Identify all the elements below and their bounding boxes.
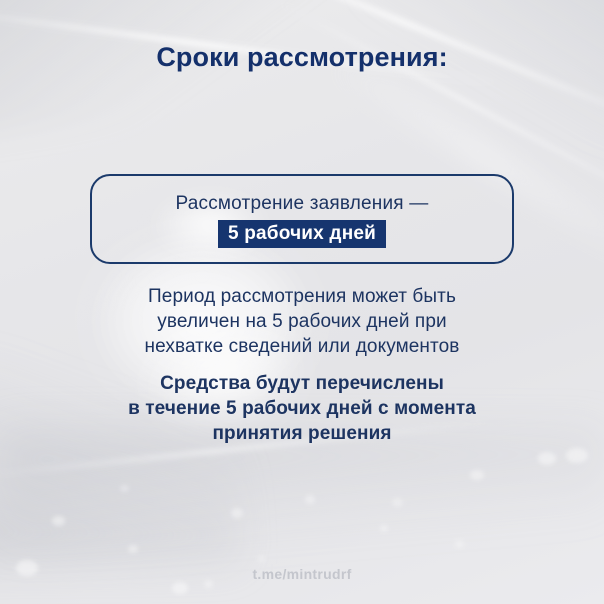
page-title: Сроки рассмотрения: [0,42,604,73]
paragraph-bold: Средства будут перечислены в течение 5 р… [0,371,604,446]
callout-label: Рассмотрение заявления — [176,191,429,217]
poster-canvas: Сроки рассмотрения: Рассмотрение заявлен… [0,0,604,604]
paragraph-regular-line: нехватке сведений или документов [0,334,604,359]
paragraph-regular-line: Период рассмотрения может быть [0,284,604,309]
footer-watermark: t.me/mintrudrf [0,566,604,582]
paragraph-regular-line: увеличен на 5 рабочих дней при [0,309,604,334]
callout-box: Рассмотрение заявления — 5 рабочих дней [90,174,514,264]
paragraph-bold-line: принятия решения [0,421,604,446]
callout-highlight-badge: 5 рабочих дней [218,220,386,248]
paragraph-bold-line: Средства будут перечислены [0,371,604,396]
paragraph-bold-line: в течение 5 рабочих дней с момента [0,396,604,421]
paragraph-regular: Период рассмотрения может быть увеличен … [0,284,604,359]
